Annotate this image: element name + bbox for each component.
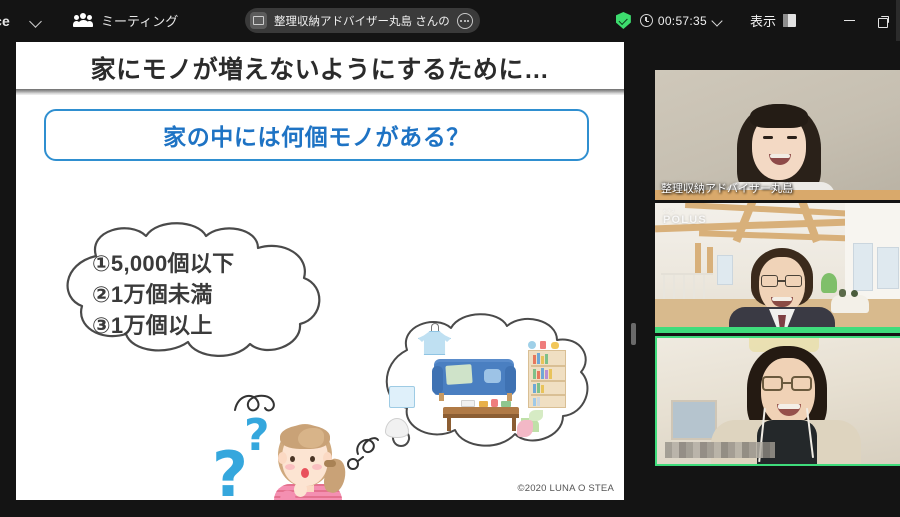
sofa-throw-blanket bbox=[445, 364, 472, 385]
scribble-doodle-small bbox=[354, 432, 380, 458]
toy-box-icon bbox=[389, 386, 415, 408]
participant-glasses-bridge bbox=[782, 382, 792, 384]
maximize-button[interactable] bbox=[866, 0, 900, 41]
laundry-bag-icon bbox=[385, 418, 409, 438]
girl-hair-tie bbox=[324, 460, 336, 467]
answer-options-list: ①5,000個以下 ②1万個未満 ③1万個以上 bbox=[92, 248, 234, 341]
slide-copyright: ©2020 LUNA O STEA bbox=[518, 483, 614, 494]
participant-eye-left bbox=[763, 136, 773, 139]
question-text: 家の中には何個モノがある？ bbox=[163, 118, 470, 152]
coffee-table-leg-left bbox=[447, 418, 451, 431]
active-speaker-edge bbox=[655, 327, 900, 333]
participant-glasses-left bbox=[761, 275, 778, 287]
sofa-arm-left bbox=[432, 366, 443, 394]
encryption-shield-icon[interactable] bbox=[616, 12, 631, 29]
meeting-tab-label: ミーティング bbox=[101, 11, 178, 30]
wall-picture bbox=[671, 400, 717, 440]
coffee-table-leg-right bbox=[512, 418, 516, 431]
answer-option: ①5,000個以下 bbox=[92, 248, 234, 279]
chevron-down-icon[interactable] bbox=[712, 15, 724, 27]
decor-item bbox=[851, 290, 858, 297]
polus-watermark: ポラス POLUS bbox=[663, 209, 707, 226]
girl-cheek-left bbox=[285, 464, 295, 470]
window bbox=[853, 243, 873, 291]
participant-glasses-left bbox=[762, 376, 783, 391]
window bbox=[717, 255, 733, 285]
presentation-slide[interactable]: 家にモノが増えないようにするために… 家の中には何個モノがある？ ①5,000個… bbox=[16, 42, 624, 500]
sofa-leg-right bbox=[507, 393, 512, 401]
room-thought-bubble bbox=[371, 310, 596, 455]
blurred-name-overlay bbox=[665, 442, 775, 458]
girl-hand bbox=[294, 482, 307, 497]
timer-value: 00:57:35 bbox=[658, 14, 707, 28]
post-beam bbox=[707, 247, 713, 273]
meeting-timer[interactable]: 00:57:35 bbox=[640, 14, 724, 28]
video-tile-active-speaker[interactable] bbox=[655, 336, 900, 466]
table-snack-icon bbox=[479, 401, 488, 407]
bookshelf-icon bbox=[528, 350, 566, 408]
shelf-box-icon bbox=[540, 341, 546, 349]
window-edge bbox=[896, 0, 900, 41]
video-tile[interactable]: ポラス POLUS bbox=[655, 203, 900, 333]
answer-thought-bubble: ①5,000個以下 ②1万個未満 ③1万個以上 bbox=[58, 222, 348, 357]
thinking-girl-illustration bbox=[268, 416, 350, 500]
question-mark-small: ? bbox=[244, 410, 270, 461]
video-tile[interactable]: 整理収納アドバイザー丸島 bbox=[655, 70, 900, 200]
shared-screen-title: 整理収納アドバイザー丸島 さんの bbox=[274, 13, 450, 29]
hanging-shirt-icon bbox=[418, 331, 451, 355]
table-paper-icon bbox=[461, 400, 475, 407]
view-button-label: 表示 bbox=[750, 11, 776, 30]
polus-watermark-text: POLUS bbox=[663, 214, 707, 226]
girl-eye-right bbox=[310, 456, 315, 462]
account-label: ce bbox=[0, 13, 10, 29]
plant-decor bbox=[821, 273, 837, 293]
shelf-clock-icon bbox=[528, 341, 536, 349]
minimize-button[interactable] bbox=[832, 0, 866, 41]
more-options-icon[interactable] bbox=[457, 13, 473, 29]
participant-teeth bbox=[770, 154, 790, 158]
toolbar-left-group: ce ミーティング bbox=[0, 11, 178, 30]
title-divider bbox=[16, 89, 624, 95]
post-beam bbox=[695, 243, 701, 273]
clock-icon bbox=[640, 14, 653, 27]
people-icon bbox=[74, 13, 93, 28]
minimize-icon bbox=[844, 20, 855, 21]
answer-option: ③1万個以上 bbox=[92, 310, 234, 341]
video-gallery: 整理収納アドバイザー丸島 bbox=[655, 70, 900, 475]
girl-mouth bbox=[301, 468, 309, 478]
view-button[interactable]: 表示 bbox=[750, 11, 796, 30]
girl-ear-left bbox=[278, 452, 287, 464]
meeting-tab[interactable]: ミーティング bbox=[74, 11, 178, 30]
participant-glasses-bridge bbox=[777, 280, 786, 282]
toolbar-right-group: 00:57:35 表示 bbox=[616, 0, 900, 41]
shared-screen-chip[interactable]: 整理収納アドバイザー丸島 さんの bbox=[245, 8, 480, 33]
room-illustration bbox=[371, 310, 596, 455]
shared-content-stage: 家にモノが増えないようにするために… 家の中には何個モノがある？ ①5,000個… bbox=[0, 41, 640, 517]
sofa-arm-right bbox=[505, 366, 516, 394]
slide-title: 家にモノが増えないようにするために… bbox=[16, 50, 624, 86]
girl-bangs-highlight bbox=[298, 428, 324, 448]
table-item-icon bbox=[501, 401, 511, 407]
participant-eye-right bbox=[787, 136, 797, 139]
polus-watermark-sub: ポラス bbox=[663, 209, 707, 214]
girl-eye-left bbox=[290, 456, 295, 462]
participant-name-label: 整理収納アドバイザー丸島 bbox=[661, 180, 793, 196]
participant-teeth bbox=[778, 404, 800, 409]
participant-bangs bbox=[750, 104, 808, 128]
hanger-hook-icon bbox=[431, 323, 439, 332]
side-table bbox=[831, 295, 869, 313]
sofa-leg-left bbox=[439, 393, 444, 401]
screen-share-icon bbox=[250, 12, 267, 29]
answer-option: ②1万個未満 bbox=[92, 279, 234, 310]
shelf-toy-icon bbox=[551, 342, 559, 349]
coffee-table-edge bbox=[443, 414, 519, 418]
participant-glasses-right bbox=[785, 275, 802, 287]
girl-cheek-right bbox=[312, 464, 322, 470]
question-mark-large: ? bbox=[212, 438, 248, 500]
question-callout-box: 家の中には何個モノがある？ bbox=[44, 109, 589, 161]
panel-resize-handle[interactable] bbox=[631, 323, 636, 345]
chevron-down-icon[interactable] bbox=[29, 14, 43, 28]
sofa-cushion bbox=[484, 369, 501, 383]
zoom-meeting-window: ce ミーティング 整理収納アドバイザー丸島 さんの 00:57:35 bbox=[0, 0, 900, 517]
maximize-icon bbox=[878, 16, 888, 26]
table-cup-icon bbox=[491, 399, 498, 407]
meeting-toolbar: ce ミーティング 整理収納アドバイザー丸島 さんの 00:57:35 bbox=[0, 0, 900, 41]
window bbox=[877, 247, 899, 289]
layout-grid-icon bbox=[783, 14, 796, 27]
pink-clutter-item bbox=[517, 420, 533, 437]
participant-glasses-right bbox=[791, 376, 812, 391]
participant-teeth bbox=[772, 297, 792, 301]
decor-item bbox=[839, 289, 846, 297]
